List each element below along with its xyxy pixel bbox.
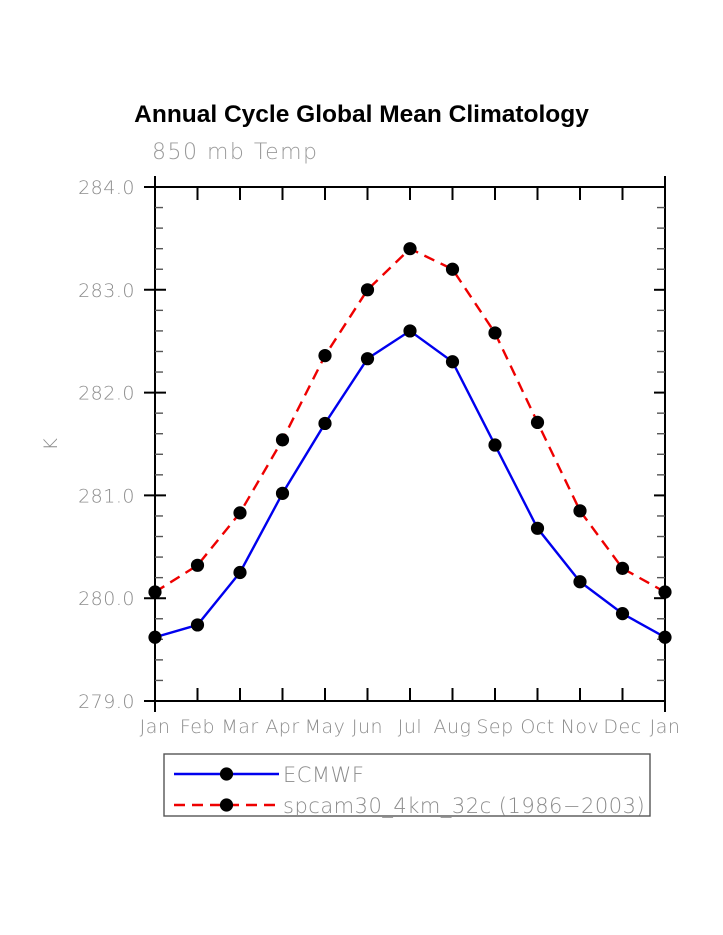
- x-tick-label: Oct: [520, 716, 554, 738]
- y-axis-ticks: 279.0280.0281.0282.0283.0284.0: [78, 177, 665, 713]
- x-axis-ticks: JanFebMarAprMayJunJulAugSepOctNovDecJan: [140, 176, 681, 738]
- data-point: [361, 283, 374, 296]
- x-tick-label: Jan: [140, 716, 171, 738]
- y-tick-label: 281.0: [78, 485, 135, 507]
- data-point: [276, 433, 289, 446]
- x-tick-label: Feb: [180, 716, 215, 738]
- legend-label-2: spcam30_4km_32c (1986−2003): [283, 794, 645, 818]
- data-point: [446, 263, 459, 276]
- x-tick-label: May: [305, 716, 346, 738]
- data-point: [573, 504, 586, 517]
- legend-label-1: ECMWF: [283, 763, 364, 787]
- data-point: [318, 349, 331, 362]
- chart-figure: Annual Cycle Global Mean Climatology 850…: [0, 0, 723, 935]
- x-tick-label: Jan: [650, 716, 681, 738]
- legend-marker-1: [220, 767, 233, 780]
- axis-frame: [155, 187, 665, 701]
- data-point: [403, 324, 416, 337]
- x-tick-label: Dec: [603, 716, 641, 738]
- x-tick-label: Jun: [352, 716, 383, 738]
- x-tick-label: Sep: [476, 716, 513, 738]
- data-point: [488, 326, 501, 339]
- data-point: [191, 618, 204, 631]
- legend-marker-2: [220, 798, 233, 811]
- data-point: [148, 585, 161, 598]
- data-point: [148, 631, 161, 644]
- data-point: [318, 417, 331, 430]
- data-point: [446, 355, 459, 368]
- y-tick-label: 282.0: [78, 383, 135, 405]
- y-tick-label: 280.0: [78, 588, 135, 610]
- data-point: [361, 352, 374, 365]
- series-2: [148, 242, 671, 599]
- data-point: [276, 487, 289, 500]
- data-point: [403, 242, 416, 255]
- series-line: [155, 249, 665, 592]
- data-point: [658, 585, 671, 598]
- data-point: [531, 416, 544, 429]
- y-tick-label: 284.0: [78, 177, 135, 199]
- x-tick-label: Nov: [561, 716, 600, 738]
- data-point: [191, 559, 204, 572]
- x-tick-label: Aug: [434, 716, 472, 738]
- y-tick-label: 283.0: [78, 280, 135, 302]
- x-tick-label: Apr: [265, 716, 299, 738]
- series-line: [155, 331, 665, 637]
- data-point: [573, 575, 586, 588]
- chart-plot-area: 279.0280.0281.0282.0283.0284.0JanFebMarA…: [0, 0, 723, 935]
- data-point: [531, 522, 544, 535]
- data-point: [616, 562, 629, 575]
- data-point: [233, 566, 246, 579]
- data-point: [658, 631, 671, 644]
- data-point: [616, 607, 629, 620]
- data-point: [488, 438, 501, 451]
- series-1: [148, 324, 671, 644]
- data-point: [233, 506, 246, 519]
- y-axis-title: K: [40, 437, 62, 450]
- y-tick-label: 279.0: [78, 691, 135, 713]
- chart-legend: ECMWFspcam30_4km_32c (1986−2003): [164, 754, 650, 818]
- x-tick-label: Mar: [221, 716, 258, 738]
- x-tick-label: Jul: [398, 716, 422, 738]
